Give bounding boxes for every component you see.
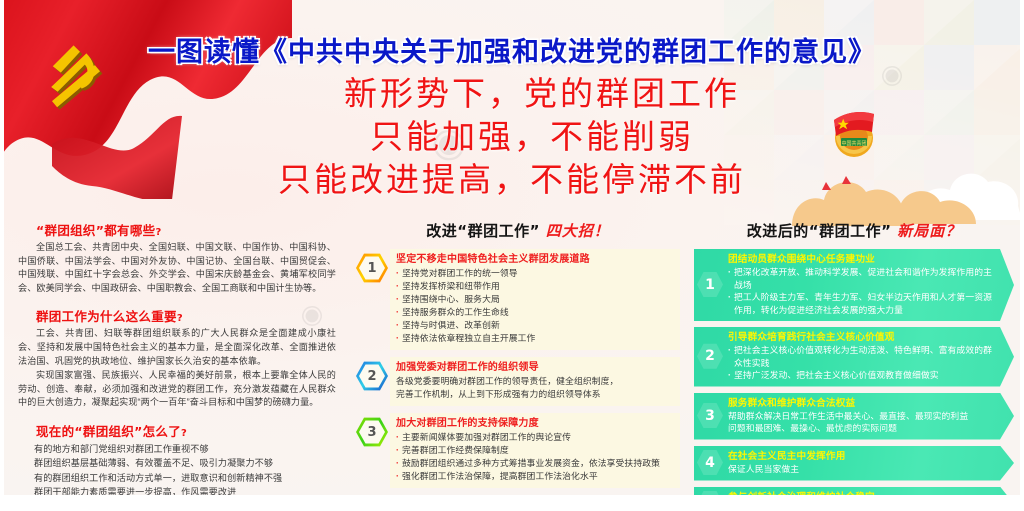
measure-bullet: 坚持依法依章程独立自主开展工作 [396, 332, 672, 345]
left-column: “群团组织”都有哪些? 全国总工会、共青团中央、全国妇联、中国文联、中国作协、中… [0, 214, 350, 496]
right-frame-border [1020, 0, 1024, 511]
outcome-number-4: 4 [697, 450, 723, 476]
outcome-body-2: 引导群众培育践行社会主义核心价值观 把社会主义核心价值观转化为生动活泼、特色鲜明… [726, 331, 994, 382]
measure-bullet: 坚持发挥桥梁和纽带作用 [396, 280, 672, 293]
measure-bullet: 完善群团工作经费保障制度 [396, 444, 672, 457]
outcome-line: 保证人民当家做主 [728, 463, 994, 476]
measure-item-2[interactable]: 2 加强党委对群团工作的组织领导 各级党委要明确对群团工作的领导责任，健全组织制… [356, 357, 680, 406]
measure-item-1[interactable]: 1 坚定不移走中国特色社会主义群团发展道路 坚持党对群团工作的统一领导 坚持发挥… [356, 249, 680, 350]
left-block-1: “群团组织”都有哪些? 全国总工会、共青团中央、全国妇联、中国文联、中国作协、中… [18, 220, 336, 295]
outcome-bar-4: 4 在社会主义民主中发挥作用 保证人民当家做主 [694, 446, 1014, 481]
left-block-1-heading: “群团组织”都有哪些? [36, 220, 336, 239]
hexagon-badge-1: 1 [356, 253, 390, 285]
outcome-line: 帮助群众解决日常工作生活中最关心、最直接、最现实的利益 [728, 410, 994, 423]
hexagon-badge-3: 3 [356, 417, 390, 449]
measure-bullet: 鼓励群团组织通过多种方式筹措事业发展资金，依法享受扶持政策 [396, 457, 672, 470]
measure-card-3: 加大对群团工作的支持保障力度 主要新闻媒体要加强对群团工作的舆论宣传 完善群团工… [390, 413, 680, 488]
middle-column-heading: 改进“群团工作” 四大招！ [356, 220, 680, 241]
left-frame-border [0, 0, 4, 511]
outcome-line: 把深化改革开放、推动科学发展、促进社会和谐作为发挥作用的主战场 [728, 266, 994, 291]
outcome-bar-3: 3 服务群众和维护群众合法权益 帮助群众解决日常工作生活中最关心、最直接、最现实… [694, 393, 1014, 440]
outcome-item-1[interactable]: 1 团结动员群众围绕中心任务建功业 把深化改革开放、推动科学发展、促进社会和谐作… [694, 249, 1014, 321]
outcome-number-badge-4: 4 [694, 450, 726, 476]
outcome-item-2[interactable]: 2 引导群众培育践行社会主义核心价值观 把社会主义核心价值观转化为生动活泼、特色… [694, 327, 1014, 387]
outcome-item-3[interactable]: 3 服务群众和维护群众合法权益 帮助群众解决日常工作生活中最关心、最直接、最现实… [694, 393, 1014, 440]
right-heading-accent: 新局面？ [897, 222, 961, 240]
left-block-3-heading: 现在的“群团组织”怎么了? [36, 421, 336, 440]
measure-line: 完善工作机制，从上到下形成强有力的组织领导体系 [396, 388, 672, 401]
slogan-line-1: 新形势下，党的群团工作 [0, 72, 1024, 115]
left-block-1-heading-text: “群团组织”都有哪些 [36, 223, 155, 238]
page-title: 一图读懂《中共中央关于加强和改进党的群团工作的意见》 [148, 30, 876, 69]
right-column-heading: 改进后的“群团工作” 新局面？ [694, 220, 1014, 241]
outcome-line: 问题和最困难、最操心、最忧虑的实际问题 [728, 422, 994, 435]
hexagon-badge-2: 2 [356, 361, 390, 393]
measure-bullet: 强化群团工作法治保障，提高群团工作法治化水平 [396, 470, 672, 483]
list-item: 有的群团组织工作和活动方式单一，进取意识和创新精神不强 [34, 471, 336, 486]
outcome-line: 坚持广泛发动、把社会主义核心价值观教育做细做实 [728, 369, 994, 382]
left-block-3-question-mark: ? [181, 428, 187, 439]
middle-heading-prefix: 改进“群团工作” [426, 222, 540, 240]
outcome-number-badge-2: 2 [694, 331, 726, 382]
left-block-1-question-mark: ? [155, 227, 161, 238]
left-block-3-list: 有的地方和部门党组织对群团工作重视不够 群团组织基层基础薄弱、有效覆盖不足、吸引… [34, 442, 336, 500]
left-block-2-heading: 群团工作为什么这么重要? [36, 306, 336, 325]
measure-line: 各级党委要明确对群团工作的领导责任，健全组织制度， [396, 375, 672, 388]
measure-item-3[interactable]: 3 加大对群团工作的支持保障力度 主要新闻媒体要加强对群团工作的舆论宣传 完善群… [356, 413, 680, 488]
outcome-number-badge-1: 1 [694, 253, 726, 316]
outcome-item-4[interactable]: 4 在社会主义民主中发挥作用 保证人民当家做主 [694, 446, 1014, 481]
left-block-2-heading-text: 群团工作为什么这么重要 [36, 309, 177, 324]
measure-bullet: 坚持围绕中心、服务大局 [396, 293, 672, 306]
outcome-number-2: 2 [697, 343, 723, 369]
left-block-2-paragraph: 实现国家富强、民族振兴、人民幸福的美好前景，根本上要靠全体人民的劳动、创造、奉献… [18, 369, 336, 410]
outcome-body-4: 在社会主义民主中发挥作用 保证人民当家做主 [726, 450, 994, 476]
outcome-number-3: 3 [697, 403, 723, 429]
left-block-1-paragraph: 全国总工会、共青团中央、全国妇联、中国文联、中国作协、中国科协、中国侨联、中国法… [18, 241, 336, 295]
right-column: 改进后的“群团工作” 新局面？ 1 团结动员群众围绕中心任务建功业 把深化改革开… [688, 214, 1024, 496]
list-item: 群团组织基层基础薄弱、有效覆盖不足、吸引力凝聚力不够 [34, 456, 336, 471]
outcome-number-badge-3: 3 [694, 397, 726, 435]
outcome-title-3: 服务群众和维护群众合法权益 [728, 397, 994, 410]
measure-bullet: 坚持服务群众的工作生命线 [396, 306, 672, 319]
middle-heading-accent: 四大招！ [546, 222, 610, 240]
left-block-2: 群团工作为什么这么重要? 工会、共青团、妇联等群团组织联系的广大人民群众是全面建… [18, 306, 336, 410]
measure-bullet: 主要新闻媒体要加强对群团工作的舆论宣传 [396, 431, 672, 444]
list-item: 有的地方和部门党组织对群团工作重视不够 [34, 442, 336, 457]
content-columns: “群团组织”都有哪些? 全国总工会、共青团中央、全国妇联、中国文联、中国作协、中… [0, 214, 1024, 496]
outcome-bar-2: 2 引导群众培育践行社会主义核心价值观 把社会主义核心价值观转化为生动活泼、特色… [694, 327, 1014, 387]
measure-card-2: 加强党委对群团工作的组织领导 各级党委要明确对群团工作的领导责任，健全组织制度，… [390, 357, 680, 406]
slogan-line-3: 只能改进提高，不能停滞不前 [0, 158, 1024, 201]
measure-title-2: 加强党委对群团工作的组织领导 [396, 361, 672, 375]
outcome-title-1: 团结动员群众围绕中心任务建功业 [728, 253, 994, 266]
measure-bullet: 坚持党对群团工作的统一领导 [396, 267, 672, 280]
left-block-3-heading-text: 现在的“群团组织”怎么了 [36, 424, 181, 439]
measure-card-1: 坚定不移走中国特色社会主义群团发展道路 坚持党对群团工作的统一领导 坚持发挥桥梁… [390, 249, 680, 350]
slogan-line-2: 只能加强，不能削弱 [0, 115, 1024, 158]
outcome-title-4: 在社会主义民主中发挥作用 [728, 450, 994, 463]
right-heading-prefix: 改进后的“群团工作” [747, 222, 892, 240]
left-block-3: 现在的“群团组织”怎么了? 有的地方和部门党组织对群团工作重视不够 群团组织基层… [18, 421, 336, 500]
measure-bullet: 坚持与时俱进、改革创新 [396, 319, 672, 332]
left-block-2-question-mark: ? [177, 313, 183, 324]
left-block-2-paragraph: 工会、共青团、妇联等群团组织联系的广大人民群众是全面建成小康社会、坚持和发展中国… [18, 327, 336, 368]
measure-title-3: 加大对群团工作的支持保障力度 [396, 417, 672, 431]
middle-column: 改进“群团工作” 四大招！ 1 坚定不移走中国特色社会主义群团发展道路 坚持党对… [350, 214, 688, 496]
slogan-block: 新形势下，党的群团工作 只能加强，不能削弱 只能改进提高，不能停滞不前 [0, 72, 1024, 201]
outcome-number-1: 1 [697, 272, 723, 298]
outcome-body-3: 服务群众和维护群众合法权益 帮助群众解决日常工作生活中最关心、最直接、最现实的利… [726, 397, 994, 435]
outcome-title-2: 引导群众培育践行社会主义核心价值观 [728, 331, 994, 344]
infographic-poster: 中国共青团 一图读懂《中共中央关于加强和改进党的群团工作的意见》 新形势下，党的… [0, 0, 1024, 511]
bottom-frame-border [0, 495, 1024, 511]
outcome-body-1: 团结动员群众围绕中心任务建功业 把深化改革开放、推动科学发展、促进社会和谐作为发… [726, 253, 994, 316]
outcome-bar-1: 1 团结动员群众围绕中心任务建功业 把深化改革开放、推动科学发展、促进社会和谐作… [694, 249, 1014, 321]
outcome-line: 把社会主义核心价值观转化为生动活泼、特色鲜明、富有成效的群众性实践 [728, 344, 994, 369]
poster-title-bar: 一图读懂《中共中央关于加强和改进党的群团工作的意见》 [0, 30, 1024, 69]
outcome-line: 把工人阶级主力军、青年生力军、妇女半边天作用和人才第一资源作用，转化为促进经济社… [728, 291, 994, 316]
measure-title-1: 坚定不移走中国特色社会主义群团发展道路 [396, 253, 672, 267]
